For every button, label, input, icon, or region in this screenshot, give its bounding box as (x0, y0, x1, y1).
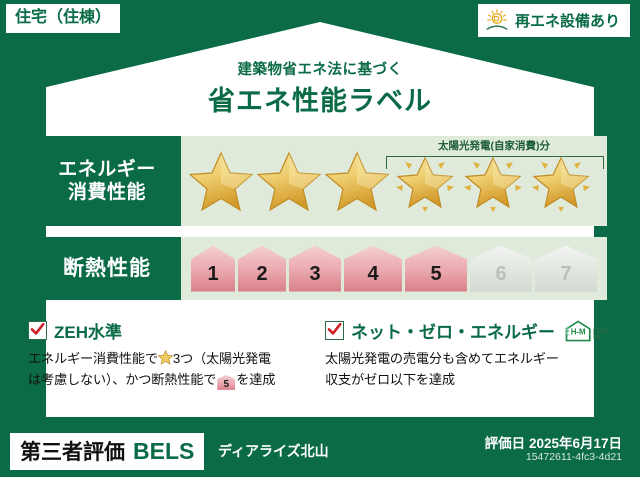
criteria-zeh-title: ZEH水準 (54, 318, 122, 343)
insulation-performance-label-box: 断熱性能 (33, 237, 181, 300)
criteria-zeh-text-4: を達成 (236, 372, 275, 387)
criteria-net-zero-title: ネット・ゼロ・エネルギー (351, 318, 555, 343)
label-title: 省エネ性能ラベル (0, 79, 640, 118)
building-type-label: 住宅（住棟） (15, 9, 111, 26)
insulation-grade-field: 1 2 3 4 5 6 7 (181, 237, 607, 300)
energy-label-line1: エネルギー (58, 158, 156, 181)
energy-performance-label: 住宅（住棟） 再エネ設備あり 建築物省エネ法に基づく 省エ (0, 0, 640, 477)
criteria-zeh-body: エネルギー消費性能で3つ（太陽光発電は考慮しない）、かつ断熱性能で5を達成 (28, 349, 318, 391)
grade-item: 6 (470, 246, 532, 292)
criteria-zeh-text-1: エネルギー消費性能で (28, 351, 158, 366)
insulation-performance-row: 断熱性能 1 2 3 4 5 6 7 (33, 237, 607, 300)
grade-item: 7 (535, 246, 597, 292)
criteria-net-zero-line2: 収支がゼロ以下を達成 (325, 372, 455, 387)
sun-icon (484, 8, 510, 32)
star-item-pv (527, 143, 595, 219)
grade-item: 3 (289, 246, 341, 292)
property-name: ディアライズ北山 (218, 441, 329, 461)
star-item (187, 143, 255, 219)
criteria-net-zero-body: 太陽光発電の売電分も含めてエネルギー収支がゼロ以下を達成 (325, 349, 615, 391)
criteria-net-zero-header: ネット・ゼロ・エネルギー H-M [ZEH-M] (325, 318, 615, 343)
grade-item: 2 (238, 246, 286, 292)
energy-star-field: 太陽光発電(自家消費)分 (181, 136, 607, 226)
bels-en-label: BELS (133, 438, 194, 465)
criteria-zeh: ZEH水準 エネルギー消費性能で3つ（太陽光発電は考慮しない）、かつ断熱性能で5… (28, 318, 318, 391)
evaluation-date-value: 2025年6月17日 (529, 436, 622, 451)
criteria-zeh-header: ZEH水準 (28, 318, 318, 343)
inline-grade-badge: 5 (217, 375, 235, 390)
star-item-pv (391, 143, 459, 219)
grade-item: 1 (191, 246, 235, 292)
zeh-m-logo: H-M [ZEH-M] (564, 319, 615, 343)
building-type-badge: 住宅（住棟） (6, 4, 120, 33)
renewable-equipment-badge: 再エネ設備あり (478, 4, 630, 37)
insulation-label: 断熱性能 (63, 256, 151, 282)
renewable-equipment-label: 再エネ設備あり (515, 10, 620, 31)
criteria-net-zero: ネット・ゼロ・エネルギー H-M [ZEH-M] 太陽光発電の売電分も含めてエネ… (325, 318, 615, 391)
checkbox-checked-icon (325, 321, 344, 340)
grade-item: 5 (405, 246, 467, 292)
evaluation-date-label: 評価日 (485, 436, 526, 451)
star-rating (181, 136, 607, 226)
checkbox-checked-icon (28, 321, 47, 340)
inline-star-icon (158, 350, 173, 365)
svg-text:H-M: H-M (571, 327, 586, 336)
insulation-grade-scale: 1 2 3 4 5 6 7 (181, 237, 607, 300)
star-item-pv (459, 143, 527, 219)
evaluation-id: 15472611-4fc3-4d21 (526, 451, 622, 463)
label-footer: 第三者評価 BELS ディアライズ北山 評価日 2025年6月17日 15472… (0, 425, 640, 477)
criteria-zeh-text-3: は考慮しない）、かつ断熱性能で (28, 372, 216, 387)
bels-badge: 第三者評価 BELS (10, 433, 204, 470)
evaluation-date: 評価日 2025年6月17日 (485, 432, 622, 452)
grade-item: 4 (344, 246, 402, 292)
label-subtitle: 建築物省エネ法に基づく (0, 58, 640, 79)
star-item (323, 143, 391, 219)
energy-performance-label-box: エネルギー 消費性能 (33, 136, 181, 226)
bels-jp-label: 第三者評価 (20, 436, 125, 466)
criteria-zeh-text-2: 3つ（太陽光発電 (173, 351, 271, 366)
energy-performance-row: エネルギー 消費性能 太陽光発電(自家消費)分 (33, 136, 607, 226)
criteria-net-zero-line1: 太陽光発電の売電分も含めてエネルギー (325, 351, 559, 366)
energy-label-line2: 消費性能 (68, 181, 146, 204)
star-item (255, 143, 323, 219)
zeh-m-caption: [ZEH-M] (593, 329, 615, 343)
